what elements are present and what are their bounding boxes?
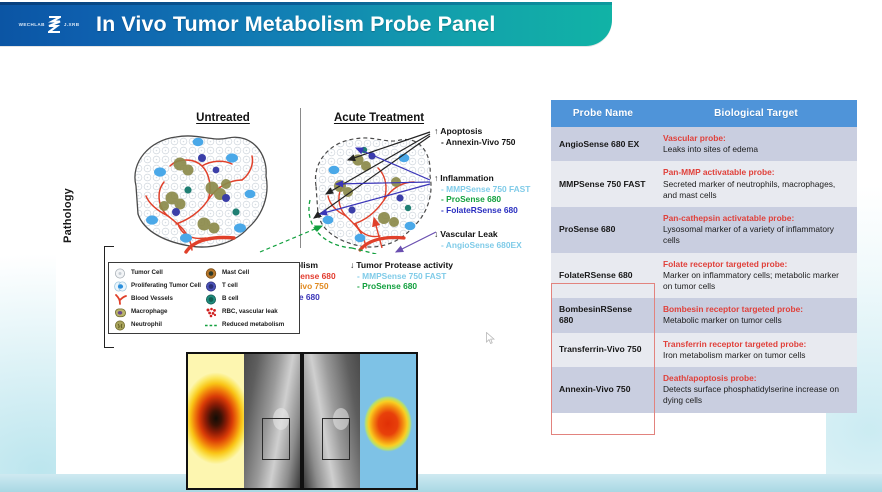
- target-heading: Bombesin receptor targeted probe:: [663, 304, 849, 315]
- column-header-probe-name: Probe Name: [551, 100, 655, 127]
- legend-label: B cell: [222, 296, 239, 303]
- callout-apoptosis-heading: Apoptosis: [434, 126, 515, 137]
- table-row[interactable]: Annexin-Vivo 750 Death/apoptosis probe: …: [551, 367, 857, 413]
- imaging-quadrant-untreated-photo: [244, 354, 300, 488]
- table-header-row: Probe Name Biological Target: [551, 100, 857, 127]
- legend-label: Blood Vessels: [131, 296, 173, 303]
- probe-name-cell: BombesinRSense 680: [551, 298, 655, 332]
- imaging-quadrant-treated-heatmap: [360, 354, 416, 488]
- proliferating-tumor-cell-icon: [114, 281, 127, 292]
- bottom-accent-strip: [0, 474, 882, 492]
- legend-label: Proliferating Tumor Cell: [131, 283, 201, 290]
- target-heading: Pan-cathepsin activatable probe:: [663, 213, 849, 224]
- target-description: Leaks into sites of edema: [663, 144, 849, 155]
- title-banner: WECHLAB J.XRB In Vivo Tumor Metabolism P…: [0, 2, 612, 46]
- legend-item-neutrophil: Neutrophil: [114, 319, 203, 332]
- table-row[interactable]: BombesinRSense 680 Bombesin receptor tar…: [551, 298, 857, 332]
- legend-item-tumor-cell: Tumor Cell: [114, 267, 203, 280]
- target-heading: Death/apoptosis probe:: [663, 373, 849, 384]
- macrophage-icon: [114, 307, 127, 318]
- dashed-line-icon: [205, 320, 218, 331]
- callout-tumor-protease-activity: Tumor Protease activity - MMPSense 750 F…: [350, 260, 453, 292]
- logo-s-mark-icon: [48, 16, 61, 33]
- callout-apoptosis-item-0: - Annexin-Vivo 750: [434, 137, 515, 148]
- neutrophil-icon: [114, 320, 127, 331]
- biological-target-cell: Pan-cathepsin activatable probe: Lysosom…: [655, 207, 857, 253]
- imaging-quadrant-treated-photo: [304, 354, 360, 488]
- callout-tumor-protease-heading: Tumor Protease activity: [350, 260, 453, 271]
- target-description: Secreted marker of neutrophils, macropha…: [663, 179, 849, 201]
- legend-item-proliferating-tumor-cell: Proliferating Tumor Cell: [114, 280, 203, 293]
- table-row[interactable]: FolateRSense 680 Folate receptor targete…: [551, 253, 857, 299]
- b-cell-icon: [205, 294, 218, 305]
- roi-box-untreated: [262, 418, 290, 460]
- target-heading: Pan-MMP activatable probe:: [663, 167, 849, 178]
- legend-label: Reduced metabolism: [222, 322, 284, 329]
- probe-name-cell: AngioSense 680 EX: [551, 127, 655, 161]
- legend-label: Tumor Cell: [131, 270, 163, 277]
- callout-inflammation-item-2: - FolateRSense 680: [434, 205, 530, 216]
- t-cell-icon: [205, 281, 218, 292]
- mouse-cursor-icon: [486, 332, 495, 345]
- logo-right-text: J.XRB: [64, 22, 80, 27]
- target-description: Detects surface phosphatidylserine incre…: [663, 384, 849, 406]
- pathology-figure: Pathology Untreated Acute Treatment: [64, 96, 534, 346]
- target-description: Iron metabolism marker on tumor cells: [663, 350, 849, 361]
- callout-inflammation-item-0: - MMPSense 750 FAST: [434, 184, 530, 195]
- page-title: In Vivo Tumor Metabolism Probe Panel: [96, 12, 495, 37]
- legend-item-mast-cell: Mast Cell: [205, 267, 294, 280]
- callout-tumor-protease-item-1: - ProSense 680: [350, 281, 453, 292]
- target-heading: Vascular probe:: [663, 133, 849, 144]
- target-description: Metabolic marker on tumor cells: [663, 315, 849, 326]
- callout-inflammation-heading: Inflammation: [434, 173, 530, 184]
- target-heading: Folate receptor targeted probe:: [663, 259, 849, 270]
- legend-item-b-cell: B cell: [205, 293, 294, 306]
- target-heading: Transferrin receptor targeted probe:: [663, 339, 849, 350]
- table-row[interactable]: Transferrin-Vivo 750 Transferrin recepto…: [551, 333, 857, 367]
- callout-vascular-leak-heading: Vascular Leak: [434, 229, 522, 240]
- roi-box-treated: [322, 418, 350, 460]
- callout-apoptosis: Apoptosis - Annexin-Vivo 750: [434, 126, 515, 147]
- target-description: Lysosomal marker of a variety of inflamm…: [663, 224, 849, 246]
- legend-label: RBC, vascular leak: [222, 309, 278, 316]
- brand-logo: WECHLAB J.XRB: [12, 12, 86, 36]
- callout-inflammation-item-1: - ProSense 680: [434, 194, 530, 205]
- legend-item-reduced-metabolism: Reduced metabolism: [205, 319, 294, 332]
- logo-left-text: WECHLAB: [19, 22, 45, 27]
- legend-item-macrophage: Macrophage: [114, 306, 203, 319]
- imaging-quadrant-untreated-heatmap: [188, 354, 244, 488]
- legend-item-blood-vessels: Blood Vessels: [114, 293, 203, 306]
- mast-cell-icon: [205, 268, 218, 279]
- biological-target-cell: Vascular probe: Leaks into sites of edem…: [655, 127, 857, 161]
- probe-name-cell: Transferrin-Vivo 750: [551, 333, 655, 367]
- column-header-biological-target: Biological Target: [655, 100, 857, 127]
- probe-panel-table: Probe Name Biological Target AngioSense …: [551, 100, 857, 413]
- callout-vascular-leak: Vascular Leak - AngioSense 680EX: [434, 229, 522, 250]
- callout-tumor-protease-item-0: - MMPSense 750 FAST: [350, 271, 453, 282]
- biological-target-cell: Death/apoptosis probe: Detects surface p…: [655, 367, 857, 413]
- figure-legend: Tumor Cell Mast Cell Proliferating Tumor…: [108, 262, 300, 334]
- probe-name-cell: ProSense 680: [551, 207, 655, 253]
- legend-label: Neutrophil: [131, 322, 162, 329]
- callout-inflammation: Inflammation - MMPSense 750 FAST - ProSe…: [434, 173, 530, 215]
- legend-label: Mast Cell: [222, 270, 249, 277]
- table-row[interactable]: AngioSense 680 EX Vascular probe: Leaks …: [551, 127, 857, 161]
- biological-target-cell: Bombesin receptor targeted probe: Metabo…: [655, 298, 857, 332]
- probe-name-cell: MMPSense 750 FAST: [551, 161, 655, 207]
- blood-vessels-icon: [114, 294, 127, 305]
- banner-top-rule: [0, 2, 612, 5]
- target-description: Marker on inflammatory cells; metabolic …: [663, 270, 849, 292]
- table-row[interactable]: MMPSense 750 FAST Pan-MMP activatable pr…: [551, 161, 857, 207]
- probe-name-cell: Annexin-Vivo 750: [551, 367, 655, 413]
- legend-item-t-cell: T cell: [205, 280, 294, 293]
- biological-target-cell: Transferrin receptor targeted probe: Iro…: [655, 333, 857, 367]
- legend-label: T cell: [222, 283, 238, 290]
- tumor-cell-icon: [114, 268, 127, 279]
- biological-target-cell: Folate receptor targeted probe: Marker o…: [655, 253, 857, 299]
- callout-vascular-leak-item-0: - AngioSense 680EX: [434, 240, 522, 251]
- biological-target-cell: Pan-MMP activatable probe: Secreted mark…: [655, 161, 857, 207]
- probe-name-cell: FolateRSense 680: [551, 253, 655, 299]
- rbc-vascular-leak-icon: [205, 307, 218, 318]
- legend-item-rbc-vascular-leak: RBC, vascular leak: [205, 306, 294, 319]
- legend-label: Macrophage: [131, 309, 167, 316]
- in-vivo-imaging-panel: [186, 352, 418, 490]
- table-row[interactable]: ProSense 680 Pan-cathepsin activatable p…: [551, 207, 857, 253]
